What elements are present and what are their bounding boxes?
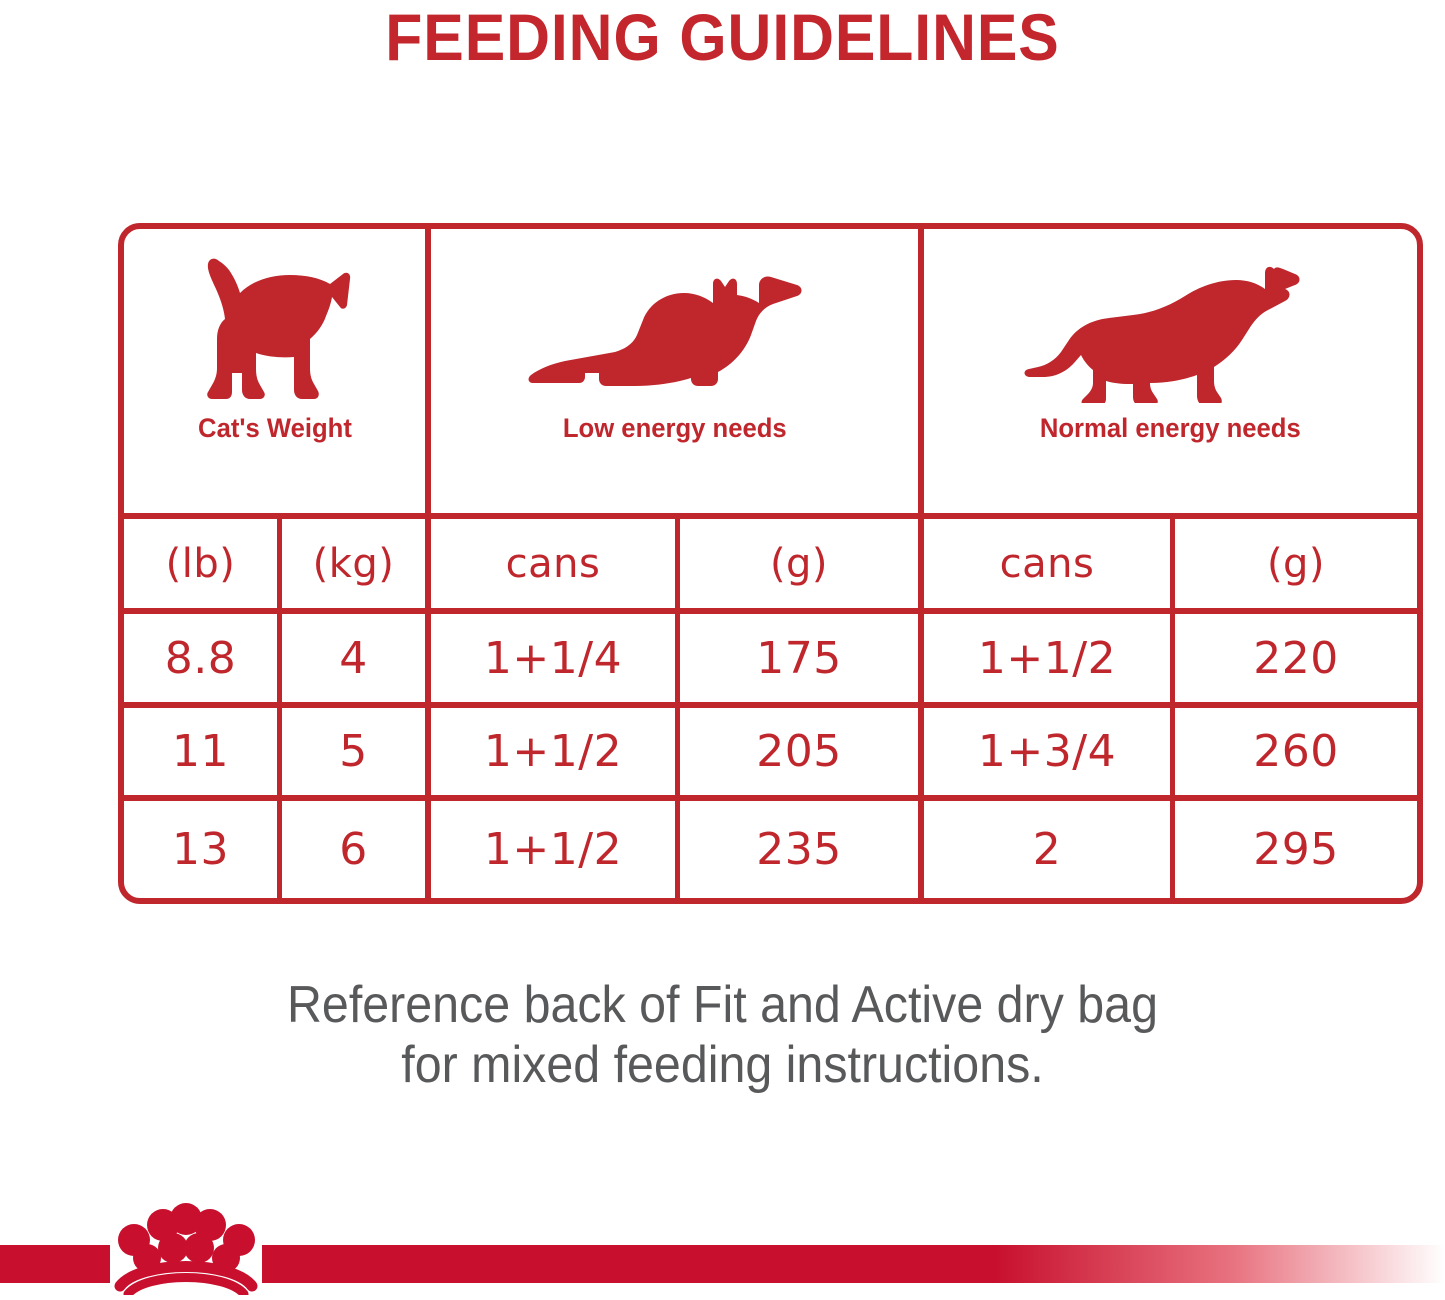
group-header-label: Cat's Weight	[198, 413, 352, 444]
cell-r1-c1: 5	[282, 708, 425, 795]
cell-r1-c3: 205	[680, 708, 918, 795]
column-header-low-cans: cans	[431, 519, 675, 608]
cell-r0-c1: 4	[282, 614, 425, 702]
cell-r2-c5: 295	[1175, 801, 1417, 898]
table-group-header-row: Cat's Weight Low energy needs Normal ene…	[124, 229, 1417, 513]
cat-standing-icon	[190, 243, 360, 403]
reference-note-line-2: for mixed feeding instructions.	[51, 1035, 1395, 1095]
cell-r0-c3: 175	[680, 614, 918, 702]
group-header-label: Normal energy needs	[1040, 413, 1301, 444]
group-header-cats-weight: Cat's Weight	[124, 229, 425, 513]
cell-r2-c0: 13	[124, 801, 277, 898]
group-header-low-energy: Low energy needs	[431, 229, 918, 513]
royal-canin-crown-icon	[100, 1196, 272, 1295]
feeding-guidelines-table: Cat's Weight Low energy needs Normal ene…	[118, 223, 1423, 904]
cell-r0-c4: 1+1/2	[924, 614, 1170, 702]
column-header-low-g: (g)	[680, 519, 918, 608]
group-header-label: Low energy needs	[563, 413, 787, 444]
column-header-normal-cans: cans	[924, 519, 1170, 608]
cell-r1-c4: 1+3/4	[924, 708, 1170, 795]
brand-bar-right-segment	[262, 1245, 1445, 1283]
column-header-lb: (lb)	[124, 519, 277, 608]
cell-r1-c0: 11	[124, 708, 277, 795]
reference-note-line-1: Reference back of Fit and Active dry bag	[51, 975, 1395, 1035]
reference-note: Reference back of Fit and Active dry bag…	[51, 975, 1395, 1096]
cat-walking-icon	[1021, 243, 1321, 403]
brand-bar-left-segment	[0, 1245, 110, 1283]
cat-lying-icon	[525, 243, 825, 403]
group-header-normal-energy: Normal energy needs	[924, 229, 1417, 513]
cell-r1-c2: 1+1/2	[431, 708, 675, 795]
column-header-kg: (kg)	[282, 519, 425, 608]
cell-r0-c5: 220	[1175, 614, 1417, 702]
column-header-normal-g: (g)	[1175, 519, 1417, 608]
cell-r0-c2: 1+1/4	[431, 614, 675, 702]
page-title: FEEDING GUIDELINES	[58, 4, 1387, 70]
cell-r1-c5: 260	[1175, 708, 1417, 795]
cell-r2-c2: 1+1/2	[431, 801, 675, 898]
cell-r2-c3: 235	[680, 801, 918, 898]
cell-r0-c0: 8.8	[124, 614, 277, 702]
cell-r2-c4: 2	[924, 801, 1170, 898]
cell-r2-c1: 6	[282, 801, 425, 898]
